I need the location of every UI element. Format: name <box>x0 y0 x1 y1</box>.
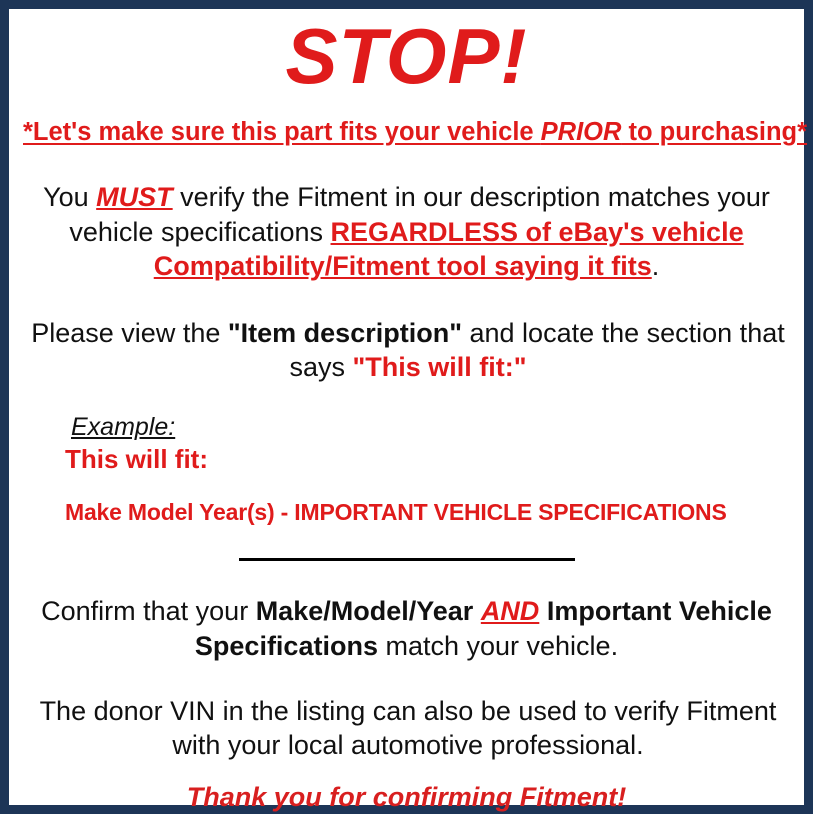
example-spec-line: Make Model Year(s) - IMPORTANT VEHICLE S… <box>65 475 790 527</box>
confirm-space-2 <box>539 596 547 626</box>
confirm-text-2: match your vehicle. <box>378 631 618 661</box>
tagline-after: to purchasing* <box>621 118 807 146</box>
example-fit-line: This will fit: <box>65 442 790 475</box>
paragraph-must: You MUST verify the Fitment in our descr… <box>31 147 783 284</box>
quote-this-will-fit: "This will fit:" <box>352 352 526 382</box>
emphasis-and: AND <box>481 596 540 626</box>
must-text-3: . <box>652 251 660 281</box>
tagline: *Let's make sure this part fits your veh… <box>23 97 790 148</box>
horizontal-divider <box>239 558 575 561</box>
thank-you-line: Thank you for confirming Fitment! <box>23 763 790 813</box>
divider-wrap <box>23 526 790 568</box>
emphasis-must: MUST <box>96 182 173 212</box>
paragraph-confirm: Confirm that your Make/Model/Year AND Im… <box>31 568 783 663</box>
paragraph-view-description: Please view the "Item description" and l… <box>23 284 793 385</box>
must-text-1: You <box>43 182 96 212</box>
example-label-row: Example: <box>65 413 790 442</box>
bold-make-model-year: Make/Model/Year <box>256 596 474 626</box>
stop-heading: STOP! <box>23 9 790 97</box>
tagline-prior: PRIOR <box>541 118 622 146</box>
example-label: Example: <box>71 413 175 442</box>
view-text-1: Please view the <box>31 318 228 348</box>
tagline-before: *Let's make sure this part fits your veh… <box>23 118 541 146</box>
paragraph-donor-vin: The donor VIN in the listing can also be… <box>23 664 793 763</box>
confirm-space-1 <box>473 596 481 626</box>
fitment-notice-body: STOP! *Let's make sure this part fits yo… <box>9 9 804 805</box>
example-block: Example: This will fit: Make Model Year(… <box>23 385 790 527</box>
quote-item-description: "Item description" <box>228 318 462 348</box>
fitment-notice-frame: STOP! *Let's make sure this part fits yo… <box>0 0 813 814</box>
confirm-text-1: Confirm that your <box>41 596 256 626</box>
